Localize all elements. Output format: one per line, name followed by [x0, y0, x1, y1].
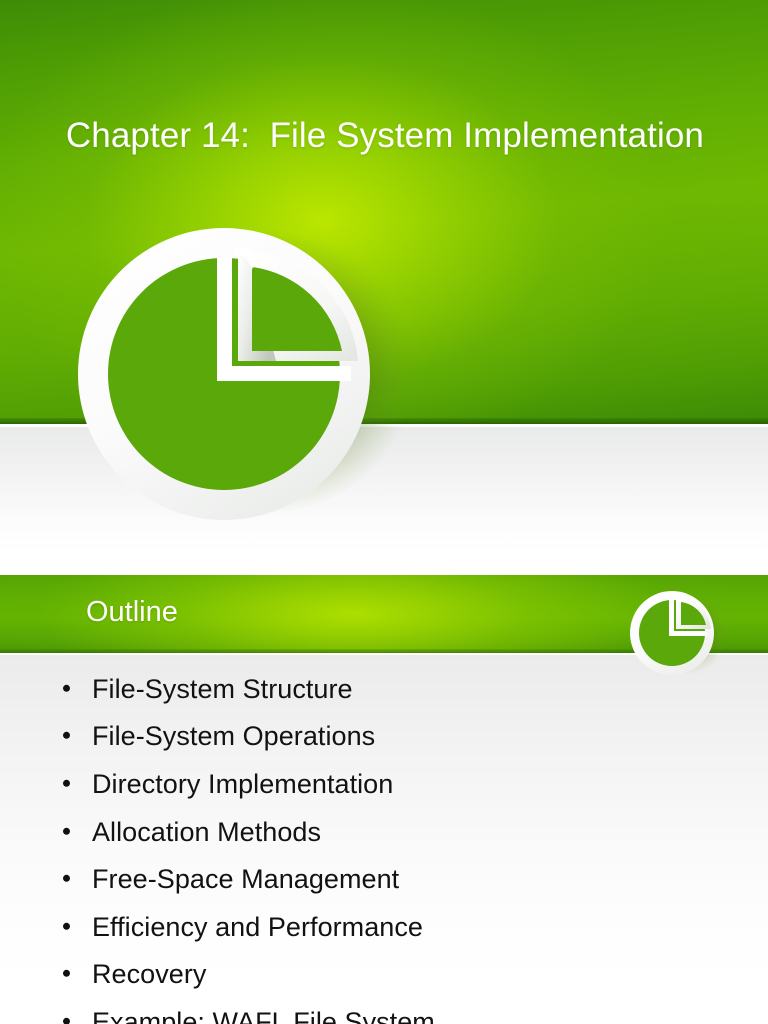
list-item-label: File-System Operations [92, 721, 375, 751]
bullet-dot-icon [63, 923, 70, 930]
list-item-label: File-System Structure [92, 674, 353, 704]
outline-heading: Outline [86, 592, 178, 632]
bullet-dot-icon [63, 780, 70, 787]
bullet-dot-icon [63, 827, 70, 834]
list-item-label: Recovery [92, 959, 206, 989]
page-title: Chapter 14: File System Implementation [64, 112, 704, 159]
pie-chart-ring-logo-small [628, 587, 734, 679]
list-item: Free-Space Management [0, 855, 768, 903]
bullet-dot-icon [63, 732, 70, 739]
slide-deck: Chapter 14: File System Implementation O… [0, 0, 768, 1024]
list-item-label: Directory Implementation [92, 769, 393, 799]
list-item-label: Free-Space Management [92, 864, 399, 894]
list-item: Recovery [0, 951, 768, 999]
bullet-dot-icon [63, 1018, 70, 1024]
list-item-label: Allocation Methods [92, 817, 321, 847]
list-item: File-System Operations [0, 713, 768, 761]
pie-chart-ring-logo [76, 211, 432, 533]
list-item: Efficiency and Performance [0, 903, 768, 951]
bullet-dot-icon [63, 875, 70, 882]
bullet-dot-icon [63, 685, 70, 692]
list-item: Example: WAFL File System [0, 998, 768, 1024]
list-item: Directory Implementation [0, 760, 768, 808]
list-item-label: Example: WAFL File System [92, 1007, 435, 1024]
list-item-label: Efficiency and Performance [92, 912, 423, 942]
title-slide: Chapter 14: File System Implementation [0, 0, 768, 553]
list-item: Allocation Methods [0, 808, 768, 856]
bullet-dot-icon [63, 970, 70, 977]
outline-bullet-list: File-System Structure File-System Operat… [0, 665, 768, 1024]
